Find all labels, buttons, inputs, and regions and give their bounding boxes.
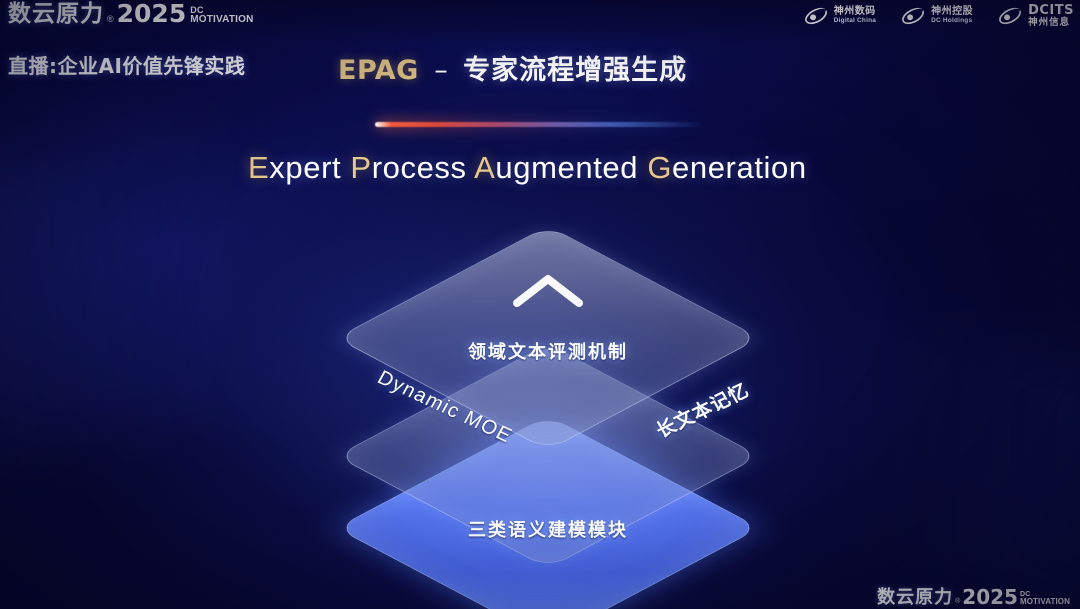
brand-registered: ® xyxy=(107,12,114,26)
partner-name-cn: DCITS xyxy=(1028,4,1074,18)
brand-dc-motivation: DC MOTIVATION xyxy=(190,6,253,26)
header-bar: 数云原力 ® 2025 DC MOTIVATION 神州数码 Digital C… xyxy=(0,0,1080,44)
swoosh-logo-icon xyxy=(997,5,1023,27)
footer-motivation-text: MOTIVATION xyxy=(1020,598,1070,606)
footer-brand-registered: ® xyxy=(955,596,960,607)
partner-labels: DCITS 神州信息 xyxy=(1028,4,1074,28)
swoosh-logo-icon xyxy=(900,5,926,27)
layer-stack-diagram: 领域文本评测机制 Dynamic MOE 长文本记忆 三类语义建模模块 xyxy=(298,228,798,583)
brand-name-cn: 数云原力 xyxy=(8,2,104,26)
slide-subtitle: Expert Process Augmented Generation xyxy=(248,150,807,186)
slide-title-cn: 专家流程增强生成 xyxy=(463,55,687,86)
title-divider-rule xyxy=(375,122,705,127)
partner-labels: 神州数码 Digital China xyxy=(834,7,876,24)
swoosh-logo-icon xyxy=(803,5,829,27)
partner-name-en: DC Holdings xyxy=(931,18,973,25)
slide-title-acronym: EPAG xyxy=(338,55,419,86)
subtitle-segment-6: G xyxy=(647,150,672,185)
slide-stage: 数云原力 ® 2025 DC MOTIVATION 神州数码 Digital C… xyxy=(0,0,1080,609)
partner-logo-dcits: DCITS 神州信息 xyxy=(997,4,1074,28)
partner-logo-digital-china: 神州数码 Digital China xyxy=(803,5,876,27)
subtitle-segment-0: E xyxy=(248,150,269,185)
slide-title-dash: – xyxy=(428,55,454,86)
brand-logo: 数云原力 ® 2025 DC MOTIVATION xyxy=(8,1,254,26)
footer-brand-cn: 数云原力 xyxy=(877,588,953,607)
subtitle-segment-3: rocess xyxy=(372,150,474,185)
partner-logo-group: 神州数码 Digital China 神州控股 DC Holdings xyxy=(803,4,1074,28)
brand-motivation-text: MOTIVATION xyxy=(190,15,253,25)
subtitle-segment-1: xpert xyxy=(269,150,350,185)
footer-watermark-logo: 数云原力 ® 2025 DC MOTIVATION xyxy=(877,587,1070,607)
live-stream-title: 直播:企业AI价值先锋实践 xyxy=(8,50,245,79)
partner-name-en: Digital China xyxy=(834,18,876,25)
partner-logo-dc-holdings: 神州控股 DC Holdings xyxy=(900,5,973,27)
slide-title: EPAG – 专家流程增强生成 xyxy=(338,54,687,88)
partner-name-en: 神州信息 xyxy=(1028,18,1074,28)
subtitle-segment-2: P xyxy=(350,150,371,185)
brand-year: 2025 xyxy=(117,1,187,26)
partner-labels: 神州控股 DC Holdings xyxy=(931,7,973,24)
subtitle-segment-5: ugmented xyxy=(495,150,647,185)
footer-dc-motivation: DC MOTIVATION xyxy=(1020,591,1070,607)
layer-plate-top xyxy=(336,226,760,451)
footer-brand-year: 2025 xyxy=(962,587,1018,607)
subtitle-segment-7: eneration xyxy=(672,150,807,185)
subtitle-segment-4: A xyxy=(474,150,495,185)
